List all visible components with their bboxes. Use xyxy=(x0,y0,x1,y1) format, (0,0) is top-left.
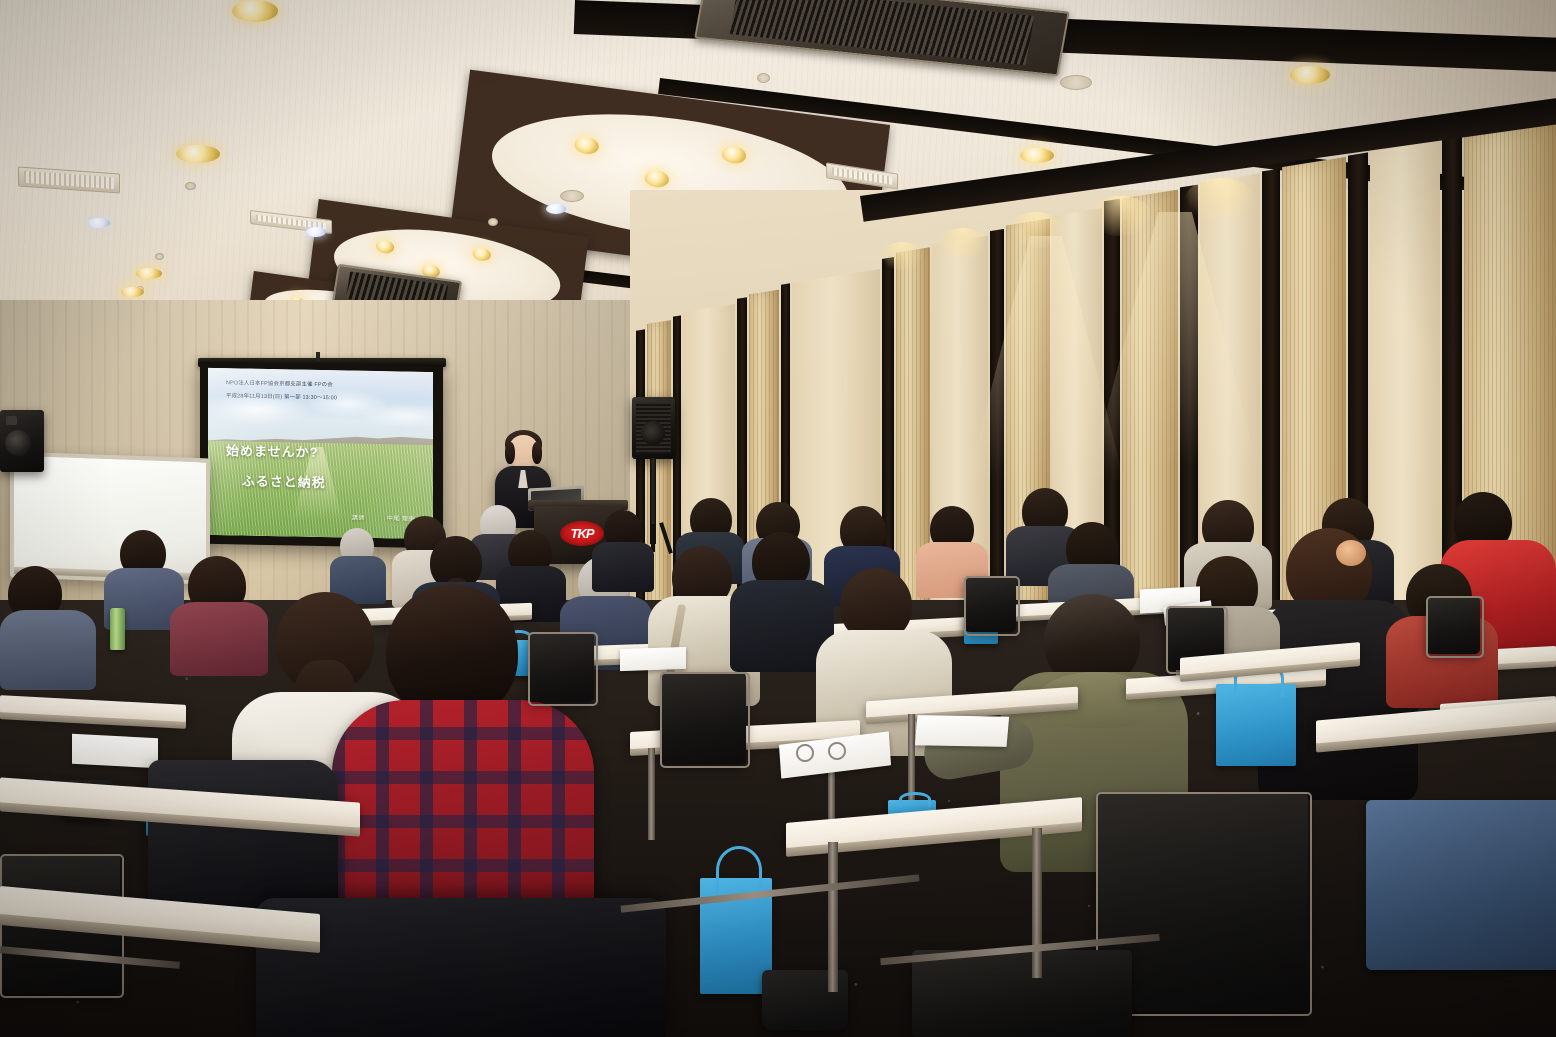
handout[interactable] xyxy=(72,734,158,769)
desk-leg xyxy=(828,842,838,992)
handout[interactable] xyxy=(620,647,686,671)
slide-glare xyxy=(208,368,433,539)
smoke-detector xyxy=(757,73,770,83)
smoke-detector xyxy=(185,182,196,190)
desk-leg xyxy=(908,714,915,800)
attendee-torso xyxy=(0,610,96,690)
draped-jacket xyxy=(148,760,338,920)
tkp-logo: TKP xyxy=(560,521,604,546)
ceiling-downlight-cool xyxy=(306,227,326,237)
smoke-detector xyxy=(155,253,164,260)
wall-spotlight-glow xyxy=(1090,196,1152,236)
speaker-cone-icon xyxy=(641,421,665,445)
wall-spotlight-glow xyxy=(938,228,988,260)
ceiling-speaker xyxy=(1060,75,1092,90)
presenter-hair-side xyxy=(532,442,542,464)
tote-bag[interactable] xyxy=(1216,684,1296,766)
attendee-torso xyxy=(170,602,268,676)
wall-spotlight-glow xyxy=(880,242,924,270)
presentation-slide: NPO法人日本FP協会京都支部主催 FPの会 平成28年11月13日(日) 第一… xyxy=(208,368,433,539)
ceiling-downlight-cool xyxy=(546,204,566,214)
handout-illustration xyxy=(796,744,814,762)
projector-screen[interactable]: NPO法人日本FP協会京都支部主催 FPの会 平成28年11月13日(日) 第一… xyxy=(208,368,433,539)
projector-screen-hanger xyxy=(316,352,320,361)
wall-spotlight-glow xyxy=(1185,178,1255,222)
handout-illustration xyxy=(828,742,846,760)
smoke-detector xyxy=(488,218,498,226)
chair-frame xyxy=(528,632,598,706)
ceiling-downlight xyxy=(176,145,220,163)
presenter-hair-side xyxy=(505,442,515,464)
handout[interactable] xyxy=(915,715,1009,747)
desk-leg xyxy=(1032,828,1042,978)
chair-frame xyxy=(964,576,1020,636)
chair[interactable] xyxy=(912,950,1132,1037)
seminar-room-photo: NPO法人日本FP協会京都支部主催 FPの会 平成28年11月13日(日) 第一… xyxy=(0,0,1556,1037)
ceiling-downlight xyxy=(1290,66,1330,84)
desk-leg xyxy=(648,748,655,840)
chair-frame xyxy=(1426,596,1484,658)
attendee-torso xyxy=(592,542,654,592)
ceiling-downlight xyxy=(136,268,162,279)
speaker-tweeter-icon xyxy=(6,416,17,425)
ceiling-speaker xyxy=(560,190,584,202)
hair-scrunchie xyxy=(1336,540,1366,566)
chair-frame xyxy=(660,672,750,768)
ceiling-downlight-cool xyxy=(88,218,110,228)
draped-denim[interactable] xyxy=(1366,800,1556,970)
ceiling-downlight xyxy=(232,0,278,22)
pa-speaker-icon xyxy=(632,397,675,459)
drink-bottle[interactable] xyxy=(110,608,125,650)
ceiling-downlight xyxy=(1020,148,1054,163)
wall-speaker-icon xyxy=(0,410,44,472)
ceiling-downlight xyxy=(121,287,144,297)
